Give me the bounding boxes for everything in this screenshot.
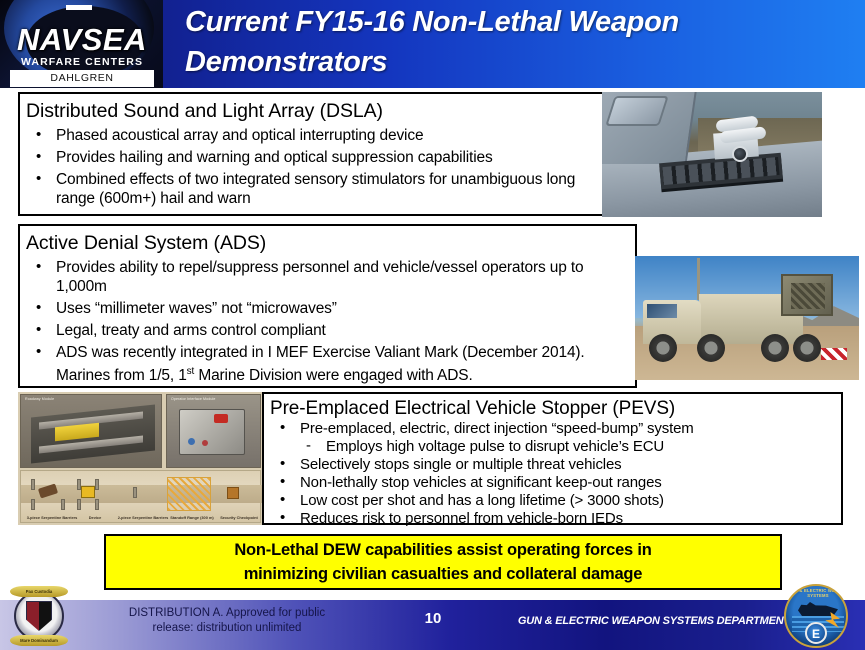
slide-footer: DISTRIBUTION A. Approved for public rele… (0, 600, 865, 650)
bullet-item: Non-lethally stop vehicles at significan… (270, 474, 833, 492)
bullet-item: Provides ability to repel/suppress perso… (26, 258, 627, 296)
department-emblem-icon: GUN & ELECTRIC WEAPON SYSTEMS E (784, 584, 848, 648)
page-title-line2: Demonstrators (185, 42, 845, 82)
navsea-accent-bar (66, 5, 92, 10)
distribution-line2: release: distribution unlimited (96, 621, 358, 636)
barrier-post (77, 499, 81, 510)
vehicle-wheel (649, 334, 677, 362)
emergency-stop-button (214, 414, 228, 423)
section-ads-bullets: Provides ability to repel/suppress perso… (26, 258, 627, 385)
seal-motto-top: Pax Custodia (10, 586, 68, 597)
bullet-item: Selectively stops single or multiple thr… (270, 456, 833, 474)
callout-line2: minimizing civilian casualties and colla… (244, 562, 643, 586)
section-pevs-bullets: Pre-emplaced, electric, direct injection… (270, 420, 833, 528)
pevs-device (81, 486, 95, 498)
dsla-camera-lens (732, 146, 748, 162)
cabin-window (605, 96, 669, 126)
pevs-roadway-module-panel: Roadway Module (20, 394, 162, 468)
navsea-subtitle: WARFARE CENTERS (10, 56, 154, 68)
emblem-ring-text: GUN & ELECTRIC WEAPON SYSTEMS (786, 588, 848, 598)
pevs-layout-scene: 3-piece Serpentine Barriers Device 2-pie… (20, 470, 261, 523)
security-checkpoint-marker (227, 487, 239, 499)
navsea-logo: NAVSEA WARFARE CENTERS DAHLGREN (0, 0, 163, 88)
pevs-operator-interface-panel: Operator Interface Module (166, 394, 261, 468)
bullet-item: Legal, treaty and arms control compliant (26, 321, 627, 340)
bullet-item: ADS was recently integrated in I MEF Exe… (26, 343, 627, 385)
page-title-line1: Current FY15-16 Non-Lethal Weapon (185, 2, 845, 42)
barrier-post (31, 499, 35, 510)
ads-photo (635, 256, 859, 380)
bullet-item: Uses “millimeter waves” not “microwaves” (26, 299, 627, 318)
roadway-module-label: Roadway Module (25, 397, 54, 401)
navsea-location: DAHLGREN (10, 70, 154, 87)
barrier-post (61, 499, 65, 510)
seal-motto-bottom: Mare Dominandum (10, 635, 68, 646)
sub-bullet-item: Employs high voltage pulse to disrupt ve… (270, 438, 833, 456)
bullet-item: Combined effects of two integrated senso… (26, 170, 597, 208)
section-ads-title: Active Denial System (ADS) (26, 232, 627, 255)
pevs-diagram: Roadway Module Operator Interface Module (18, 392, 263, 525)
barrier-post (133, 487, 137, 498)
vehicle-wheel (761, 334, 789, 362)
bullet-item: Reduces risk to personnel from vehicle-b… (270, 510, 833, 528)
operator-interface-unit (179, 409, 245, 455)
bullet-item: Phased acoustical array and optical inte… (26, 126, 597, 145)
navsea-wordmark: NAVSEA (4, 22, 160, 58)
road-lane (21, 485, 262, 503)
distribution-line1: DISTRIBUTION A. Approved for public (96, 606, 358, 621)
standoff-range-zone (167, 477, 211, 511)
ads-antenna-dish (781, 274, 833, 316)
bullet-item: Pre-emplaced, electric, direct injection… (270, 420, 833, 438)
command-seal-icon: Pax Custodia Mare Dominandum (8, 586, 70, 646)
slide-header: NAVSEA WARFARE CENTERS DAHLGREN Current … (0, 0, 865, 88)
diagram-caption: Device (73, 516, 117, 521)
vehicle-windshield (647, 304, 677, 318)
page-number: 10 (398, 610, 468, 627)
section-dsla: Distributed Sound and Light Array (DSLA)… (18, 92, 607, 216)
department-name: GUN & ELECTRIC WEAPON SYSTEMS DEPARTMENT (470, 615, 790, 627)
barrier-post (95, 479, 99, 490)
vehicle-wheel (697, 334, 725, 362)
section-dsla-bullets: Phased acoustical array and optical inte… (26, 126, 597, 208)
section-dsla-title: Distributed Sound and Light Array (DSLA) (26, 100, 597, 123)
boat-cabin (602, 92, 697, 164)
emblem-letter-badge: E (805, 622, 827, 644)
page-title: Current FY15-16 Non-Lethal Weapon Demons… (185, 2, 845, 86)
diagram-caption: Security Checkpoint (217, 516, 261, 521)
barrier-post (31, 479, 35, 490)
key-message-callout: Non-Lethal DEW capabilities assist opera… (104, 534, 782, 590)
section-ads: Active Denial System (ADS) Provides abil… (18, 224, 637, 388)
control-knob (202, 440, 208, 446)
diagram-caption: Standoff Range (300 m) (165, 516, 219, 521)
barrier-post (95, 499, 99, 510)
bullet-item: Provides hailing and warning and optical… (26, 148, 597, 167)
bullet-text-post: Marine Division were engaged with ADS. (194, 367, 472, 384)
bullet-item: Low cost per shot and has a long lifetim… (270, 492, 833, 510)
callout-line1: Non-Lethal DEW capabilities assist opera… (234, 538, 651, 562)
vehicle-wheel (793, 334, 821, 362)
marker-flag (821, 348, 847, 360)
dsla-photo (602, 92, 822, 217)
section-pevs: Pre-Emplaced Electrical Vehicle Stopper … (262, 392, 843, 525)
distribution-statement: DISTRIBUTION A. Approved for public rele… (96, 606, 358, 636)
diagram-caption: 2-piece Serpentine Barriers (113, 516, 173, 521)
control-knob (188, 438, 195, 445)
barrier-post (77, 479, 81, 490)
slide: NAVSEA WARFARE CENTERS DAHLGREN Current … (0, 0, 865, 650)
section-pevs-title: Pre-Emplaced Electrical Vehicle Stopper … (270, 398, 833, 420)
operator-interface-label: Operator Interface Module (171, 397, 215, 401)
